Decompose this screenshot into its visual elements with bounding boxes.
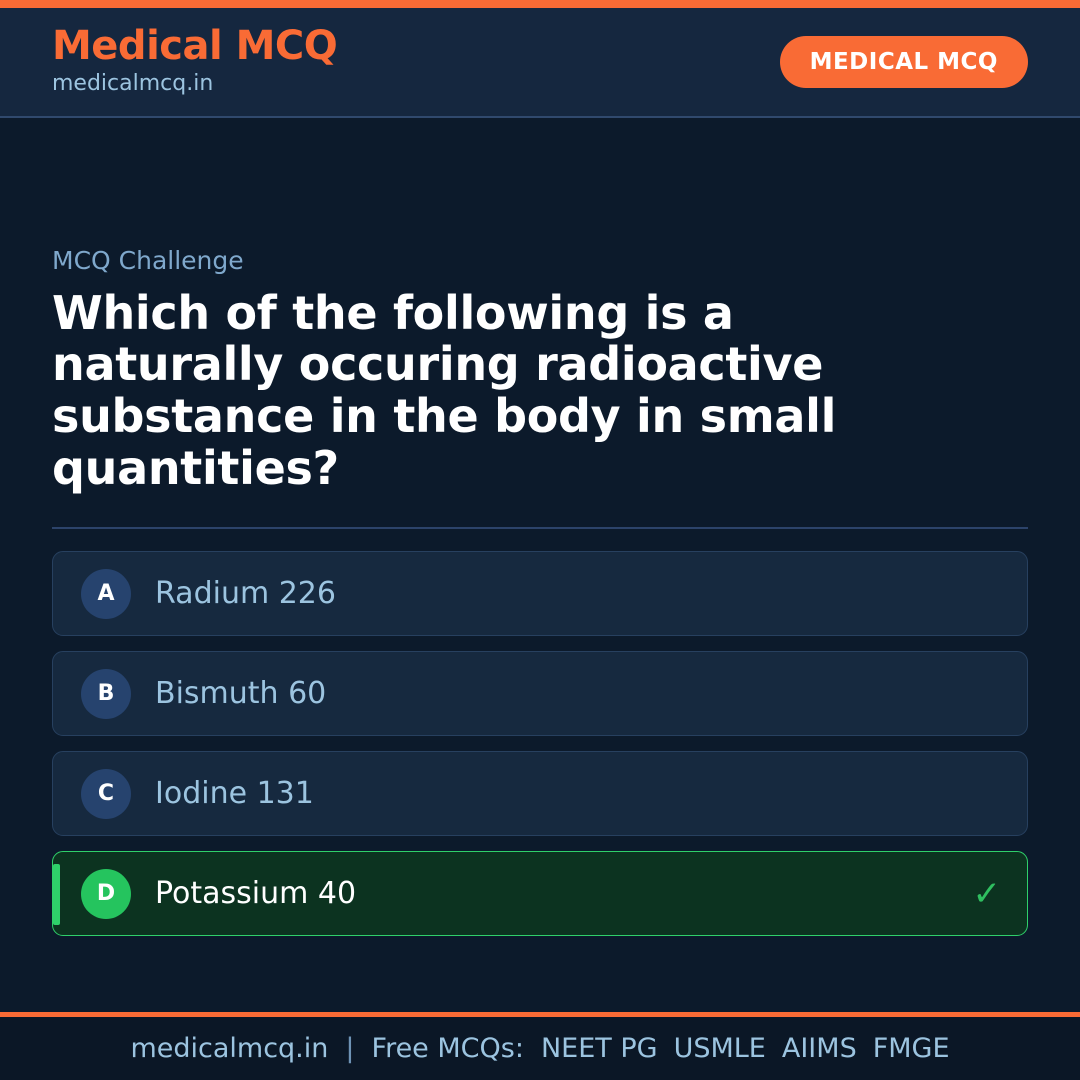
option-letter-badge: B (81, 669, 131, 719)
brand-title: Medical MCQ (52, 25, 337, 68)
option-letter-badge: D (81, 869, 131, 919)
footer-exam-item: NEET PG (541, 1033, 658, 1064)
brand: Medical MCQ medicalmcq.in (52, 25, 337, 99)
header-badge: MEDICAL MCQ (780, 36, 1028, 88)
mcq-card: Medical MCQ medicalmcq.in MEDICAL MCQ MC… (0, 0, 1080, 1080)
option-letter-badge: A (81, 569, 131, 619)
footer-exam-item: FMGE (873, 1033, 950, 1064)
option-d[interactable]: DPotassium 40✓ (52, 851, 1028, 936)
check-icon: ✓ (973, 877, 1002, 911)
option-letter-badge: C (81, 769, 131, 819)
option-label: Potassium 40 (155, 876, 973, 912)
footer-inner: medicalmcq.in | Free MCQs: NEET PGUSMLEA… (130, 1033, 949, 1064)
option-c[interactable]: CIodine 131 (52, 751, 1028, 836)
brand-url: medicalmcq.in (52, 70, 337, 99)
kicker-label: MCQ Challenge (52, 247, 1028, 275)
option-a[interactable]: ARadium 226 (52, 551, 1028, 636)
footer: medicalmcq.in | Free MCQs: NEET PGUSMLEA… (0, 1012, 1080, 1080)
option-label: Radium 226 (155, 576, 1001, 612)
footer-separator: | (345, 1033, 354, 1064)
footer-exam-item: AIIMS (782, 1033, 857, 1064)
options-list: ARadium 226BBismuth 60CIodine 131DPotass… (52, 551, 1028, 936)
top-accent-bar (0, 0, 1080, 8)
correct-accent-bar (53, 864, 60, 925)
footer-exam-item: USMLE (674, 1033, 766, 1064)
option-b[interactable]: BBismuth 60 (52, 651, 1028, 736)
question-divider (52, 527, 1028, 529)
option-label: Iodine 131 (155, 776, 1001, 812)
header: Medical MCQ medicalmcq.in MEDICAL MCQ (0, 8, 1080, 118)
option-label: Bismuth 60 (155, 676, 1001, 712)
footer-label: Free MCQs: (372, 1033, 524, 1064)
footer-site: medicalmcq.in (130, 1033, 328, 1064)
question-text: Which of the following is a naturally oc… (52, 288, 957, 496)
footer-exams: NEET PGUSMLEAIIMSFMGE (541, 1033, 950, 1064)
main-content: MCQ Challenge Which of the following is … (0, 118, 1080, 1012)
